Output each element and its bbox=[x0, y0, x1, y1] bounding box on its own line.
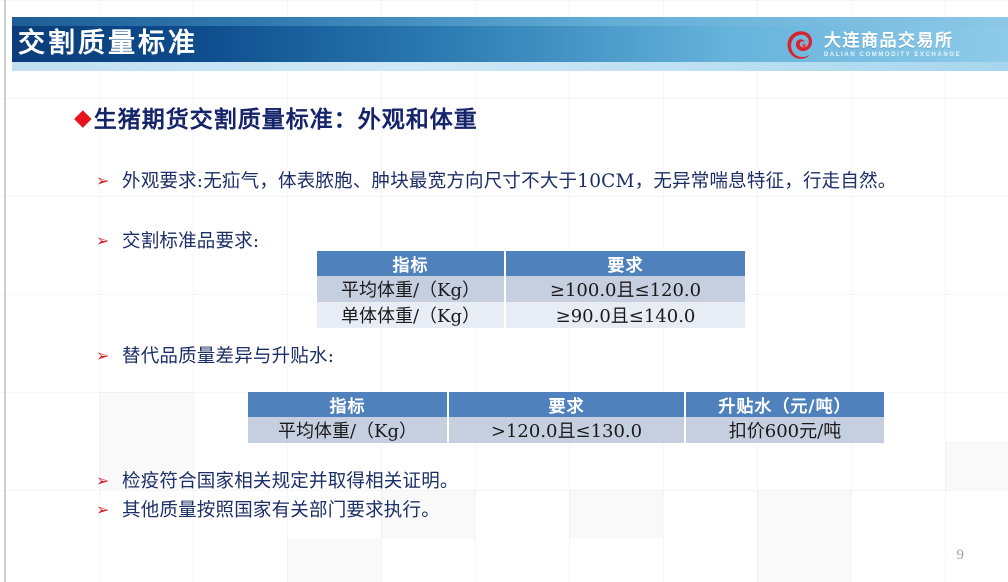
cell-requirement: ≥100.0且≤120.0 bbox=[505, 276, 745, 302]
cell-requirement: ≥90.0且≤140.0 bbox=[505, 302, 745, 328]
page-number: 9 bbox=[957, 547, 965, 564]
slide-left-border bbox=[4, 0, 6, 582]
cell-indicator: 平均体重/（Kg） bbox=[248, 417, 448, 443]
bullet-item-other-quality: ➢ 其他质量按照国家有关部门要求执行。 bbox=[96, 497, 440, 524]
column-header-requirement: 要求 bbox=[505, 251, 745, 276]
bullet-item-standard-grade: ➢ 交割标准品要求: bbox=[96, 228, 259, 255]
standard-grade-table: 指标 要求 平均体重/（Kg） ≥100.0且≤120.0 单体体重/（Kg） … bbox=[317, 251, 745, 328]
table-row: 平均体重/（Kg） ≥100.0且≤120.0 bbox=[317, 276, 745, 302]
bullet-text-standard-grade: 交割标准品要求: bbox=[122, 228, 259, 255]
page-title: 交割质量标准 bbox=[18, 27, 198, 61]
cell-premium-discount: 扣价600元/吨 bbox=[685, 417, 884, 443]
table-row: 平均体重/（Kg） >120.0且≤130.0 扣价600元/吨 bbox=[248, 417, 884, 443]
cell-requirement: >120.0且≤130.0 bbox=[448, 417, 685, 443]
bullet-text-quarantine: 检疫符合国家相关规定并取得相关证明。 bbox=[122, 468, 459, 495]
header-top-strip bbox=[12, 17, 1008, 26]
table-header-row: 指标 要求 升贴水（元/吨） bbox=[248, 392, 884, 417]
bullet-item-appearance: ➢ 外观要求:无疝气，体表脓胞、肿块最宽方向尺寸不大于10CM，无异常喘息特征，… bbox=[96, 168, 996, 195]
table-header-row: 指标 要求 bbox=[317, 251, 745, 276]
bullet-item-quarantine: ➢ 检疫符合国家相关规定并取得相关证明。 bbox=[96, 468, 459, 495]
arrow-bullet-icon: ➢ bbox=[96, 168, 122, 194]
logo-english-name: DALIAN COMMODITY EXCHANGE bbox=[824, 52, 961, 58]
arrow-bullet-icon: ➢ bbox=[96, 497, 122, 523]
table-row: 单体体重/（Kg） ≥90.0且≤140.0 bbox=[317, 302, 745, 328]
slide-canvas: 交割质量标准 大连商品交易所 DALIAN COMMODITY EXCHANGE… bbox=[0, 0, 1008, 582]
arrow-bullet-icon: ➢ bbox=[96, 468, 122, 494]
logo-text-block: 大连商品交易所 DALIAN COMMODITY EXCHANGE bbox=[824, 33, 961, 58]
cell-indicator: 平均体重/（Kg） bbox=[317, 276, 505, 302]
dce-swirl-logo-icon bbox=[786, 30, 816, 60]
logo-chinese-name: 大连商品交易所 bbox=[824, 33, 961, 50]
bullet-item-substitute: ➢ 替代品质量差异与升贴水: bbox=[96, 343, 334, 370]
substitute-premium-table: 指标 要求 升贴水（元/吨） 平均体重/（Kg） >120.0且≤130.0 扣… bbox=[248, 392, 884, 443]
bullet-text-other-quality: 其他质量按照国家有关部门要求执行。 bbox=[122, 497, 440, 524]
bullet-text-substitute: 替代品质量差异与升贴水: bbox=[122, 343, 334, 370]
column-header-premium-discount: 升贴水（元/吨） bbox=[685, 392, 884, 417]
cell-indicator: 单体体重/（Kg） bbox=[317, 302, 505, 328]
arrow-bullet-icon: ➢ bbox=[96, 343, 122, 369]
header-bottom-strip bbox=[12, 62, 1008, 71]
column-header-requirement: 要求 bbox=[448, 392, 685, 417]
section-heading-text: 生猪期货交割质量标准：外观和体重 bbox=[94, 100, 478, 134]
column-header-indicator: 指标 bbox=[317, 251, 505, 276]
column-header-indicator: 指标 bbox=[248, 392, 448, 417]
diamond-bullet-icon: ◆ bbox=[74, 106, 92, 129]
bullet-text-appearance: 外观要求:无疝气，体表脓胞、肿块最宽方向尺寸不大于10CM，无异常喘息特征，行走… bbox=[122, 168, 987, 195]
arrow-bullet-icon: ➢ bbox=[96, 228, 122, 254]
section-heading: ◆ 生猪期货交割质量标准：外观和体重 bbox=[74, 100, 478, 134]
organization-logo: 大连商品交易所 DALIAN COMMODITY EXCHANGE bbox=[786, 30, 961, 60]
